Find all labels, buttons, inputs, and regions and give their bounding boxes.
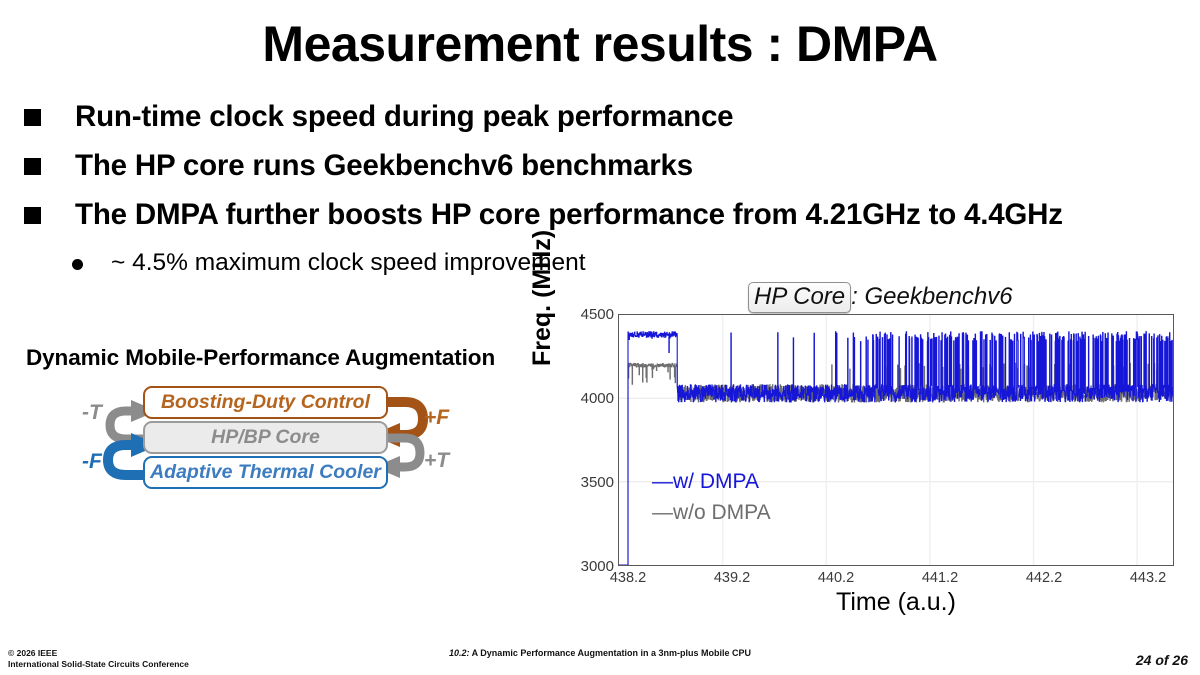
signal-label-minus-t: -T: [82, 401, 102, 425]
bullet-item-1-label: Run-time clock speed during peak perform…: [75, 99, 733, 136]
bullet-list: Run-time clock speed during peak perform…: [24, 99, 1174, 277]
bullet-item-3-label: The DMPA further boosts HP core performa…: [75, 197, 1063, 234]
signal-label-plus-t: +T: [424, 449, 449, 473]
x-tick-443-2: 443.2: [1130, 570, 1166, 586]
y-tick-3000: 3000: [556, 558, 614, 575]
y-tick-4500: 4500: [556, 306, 614, 323]
chart-title-suffix: : Geekbenchv6: [851, 283, 1012, 310]
signal-label-plus-f: +F: [424, 406, 449, 430]
bullet-item-4: ~ 4.5% maximum clock speed improvement: [72, 248, 1174, 277]
footer-paper-number: 10.2:: [449, 648, 470, 658]
footer-paper-title: 10.2: A Dynamic Performance Augmentation…: [0, 648, 1200, 658]
y-axis-ticks: 4500 4000 3500 3000: [552, 282, 614, 582]
dmpa-diagram-heading: Dynamic Mobile-Performance Augmentation: [26, 345, 526, 371]
trace-with-dmpa: [619, 332, 1173, 565]
bullet-item-4-label: ~ 4.5% maximum clock speed improvement: [111, 248, 586, 277]
chart-title-hpcore-chip: HP Core: [748, 282, 851, 313]
footer-copyright-line2: International Solid-State Circuits Confe…: [8, 659, 189, 670]
footer-paper-name: A Dynamic Performance Augmentation in a …: [472, 648, 751, 658]
y-tick-3500: 3500: [556, 474, 614, 491]
x-tick-438-2: 438.2: [610, 570, 646, 586]
chart-gridlines-vertical: [723, 315, 1138, 565]
round-bullet-icon: [72, 259, 83, 270]
chart-plot-area[interactable]: [618, 314, 1174, 566]
dmpa-diagram: Dynamic Mobile-Performance Augmentation: [26, 345, 526, 495]
signal-label-minus-f: -F: [82, 450, 102, 474]
bullet-item-3: The DMPA further boosts HP core performa…: [24, 197, 1174, 234]
x-tick-441-2: 441.2: [922, 570, 958, 586]
x-tick-439-2: 439.2: [714, 570, 750, 586]
page-title: Measurement results : DMPA: [0, 18, 1200, 71]
bullet-item-1: Run-time clock speed during peak perform…: [24, 99, 1174, 136]
legend-item-with-dmpa[interactable]: —w/ DMPA: [652, 470, 759, 494]
legend-item-without-dmpa[interactable]: —w/o DMPA: [652, 501, 771, 525]
bullet-item-2-label: The HP core runs Geekbenchv6 benchmarks: [75, 148, 693, 185]
x-axis-label: Time (a.u.): [618, 588, 1174, 617]
frequency-chart: HP Core: Geekbenchv6 Freq. (MHz) 4500 40…: [530, 282, 1195, 632]
chart-title: HP Core: Geekbenchv6: [748, 282, 1013, 313]
bullet-item-2: The HP core runs Geekbenchv6 benchmarks: [24, 148, 1174, 185]
square-bullet-icon: [24, 109, 41, 126]
square-bullet-icon: [24, 158, 41, 175]
diagram-box-adaptive-thermal-cooler[interactable]: Adaptive Thermal Cooler: [143, 456, 388, 489]
square-bullet-icon: [24, 207, 41, 224]
x-tick-442-2: 442.2: [1026, 570, 1062, 586]
dmpa-diagram-graphic: Boosting-Duty Control HP/BP Core Adaptiv…: [26, 383, 496, 493]
footer-page-number: 24 of 26: [1136, 652, 1188, 668]
chart-traces: [619, 315, 1173, 565]
y-tick-4000: 4000: [556, 390, 614, 407]
x-tick-440-2: 440.2: [818, 570, 854, 586]
diagram-box-boosting-duty-control[interactable]: Boosting-Duty Control: [143, 386, 388, 419]
diagram-box-hp-bp-core[interactable]: HP/BP Core: [143, 421, 388, 454]
